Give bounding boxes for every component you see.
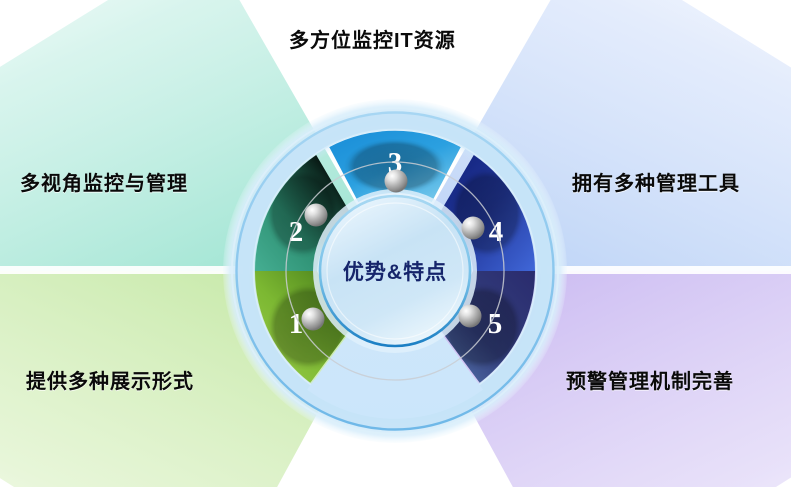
- center-title: 优势&特点: [315, 256, 475, 286]
- sphere-marker-1[interactable]: [302, 308, 325, 331]
- label-left-bottom: 提供多种展示形式: [26, 365, 194, 394]
- donut-diagram: 1 2 3 4: [0, 0, 791, 487]
- ring-segment-1-number: 1: [289, 308, 304, 340]
- label-right-top: 拥有多种管理工具: [572, 167, 740, 196]
- sphere-marker-2[interactable]: [305, 204, 328, 227]
- diagram-canvas: 1 2 3 4: [0, 0, 791, 487]
- label-top: 多方位监控IT资源: [289, 24, 456, 53]
- label-right-bottom: 预警管理机制完善: [566, 365, 734, 394]
- sphere-marker-3[interactable]: [385, 170, 408, 193]
- sphere-marker-4[interactable]: [462, 217, 485, 240]
- ring-segment-2-number: 2: [289, 216, 304, 248]
- ring-segment-4-number: 4: [489, 216, 504, 248]
- label-left-top: 多视角监控与管理: [20, 167, 188, 196]
- sphere-marker-5[interactable]: [459, 305, 482, 328]
